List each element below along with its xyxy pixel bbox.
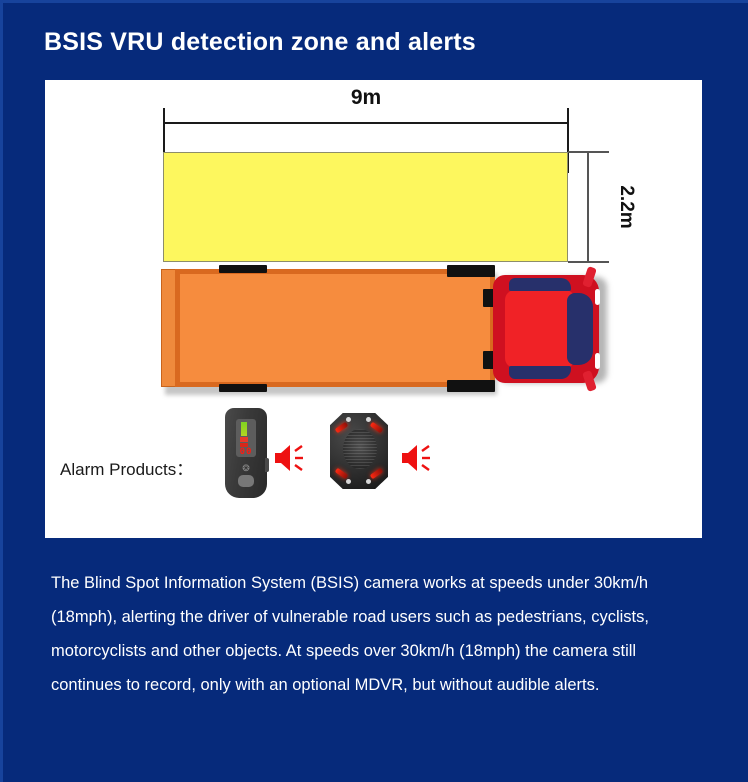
cab-wheel-bottom xyxy=(447,380,495,392)
speaker-sound-icon xyxy=(273,443,307,473)
width-dimension-label: 9m xyxy=(163,86,569,110)
width-dimension-line xyxy=(163,122,569,124)
radar-device-logo: ❂ xyxy=(241,464,251,472)
external-speaker-alarm-device xyxy=(330,413,388,489)
height-dimension-label: 2.2m xyxy=(615,176,637,238)
vru-detection-zone xyxy=(163,152,568,262)
speaker-screw-bottom-right xyxy=(366,479,371,484)
description-paragraph: The Blind Spot Information System (BSIS)… xyxy=(51,566,697,702)
truck-illustration xyxy=(161,265,571,395)
speaker-sound-icon-secondary xyxy=(400,443,434,473)
radar-led-bar-green xyxy=(241,422,247,436)
speaker-grille xyxy=(343,429,377,469)
alarm-products-label: Alarm Products： xyxy=(60,455,193,480)
speaker-screw-top-left xyxy=(346,417,351,422)
radar-led-bar-red-1 xyxy=(240,437,248,442)
speaker-screw-top-right xyxy=(366,417,371,422)
speaker-screw-bottom-left xyxy=(346,479,351,484)
radar-device-side-tab xyxy=(265,458,269,472)
radar-display-alarm-device: 00 ❂ xyxy=(225,408,267,498)
page-title: BSIS VRU detection zone and alerts xyxy=(44,28,476,57)
cab-windshield xyxy=(567,293,593,365)
height-dimension-line xyxy=(587,151,589,263)
truck-cab-roof xyxy=(505,290,575,368)
cab-side-window-top xyxy=(509,278,571,291)
trailer-wheel-bottom xyxy=(219,384,267,392)
page-root: BSIS VRU detection zone and alerts 9m 2.… xyxy=(0,0,748,782)
trailer-wheel-top xyxy=(219,265,267,273)
cab-wheel-top xyxy=(447,265,495,277)
trailer-body xyxy=(175,269,495,387)
diagram-card: 9m 2.2m xyxy=(45,80,702,538)
radar-digit-display: 00 xyxy=(237,447,255,457)
cab-headlight-top xyxy=(595,289,600,305)
cab-side-window-bottom xyxy=(509,366,571,379)
cab-headlight-bottom xyxy=(595,353,600,369)
radar-device-button xyxy=(238,475,254,487)
